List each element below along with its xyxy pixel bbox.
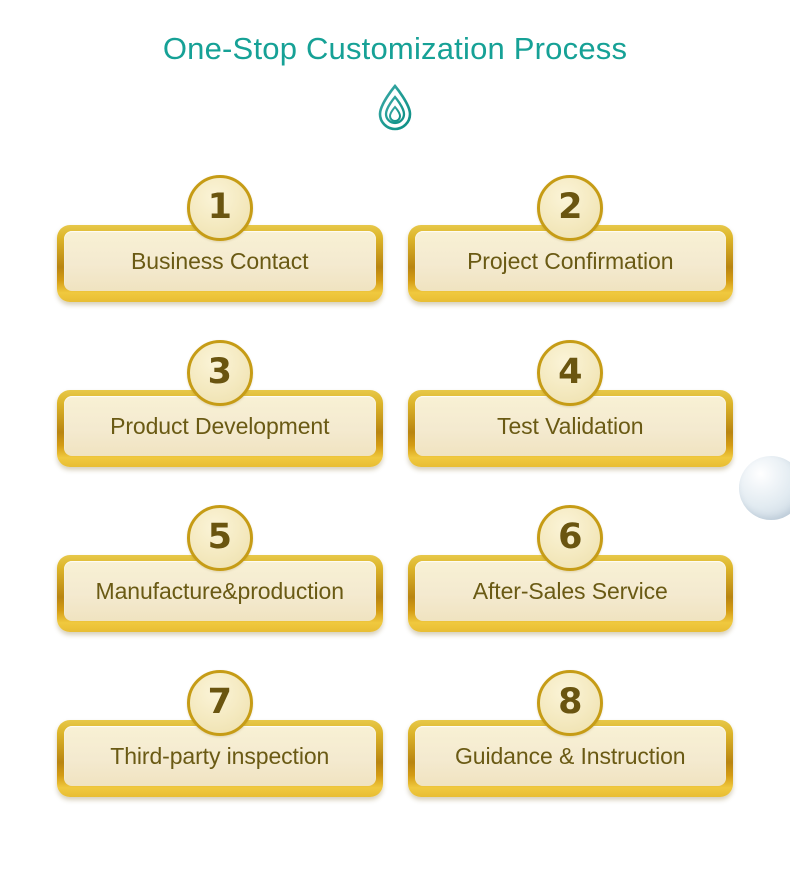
step-number: 2 bbox=[558, 190, 582, 225]
process-step-4[interactable]: 4 Test Validation bbox=[408, 340, 734, 505]
page-title: One-Stop Customization Process bbox=[0, 0, 790, 67]
step-number: 5 bbox=[208, 520, 232, 555]
step-number-badge: 4 bbox=[537, 340, 603, 406]
step-number-badge: 1 bbox=[187, 175, 253, 241]
process-steps-grid: 1 Business Contact 2 Project Confirmatio… bbox=[0, 175, 790, 835]
water-droplet-icon bbox=[375, 83, 415, 133]
process-step-7[interactable]: 7 Third-party inspection bbox=[57, 670, 383, 835]
step-number-badge: 2 bbox=[537, 175, 603, 241]
process-step-2[interactable]: 2 Project Confirmation bbox=[408, 175, 734, 340]
step-label: Test Validation bbox=[491, 415, 649, 438]
step-number-badge: 3 bbox=[187, 340, 253, 406]
process-step-1[interactable]: 1 Business Contact bbox=[57, 175, 383, 340]
process-step-6[interactable]: 6 After-Sales Service bbox=[408, 505, 734, 670]
step-number: 7 bbox=[208, 685, 232, 720]
step-number: 6 bbox=[558, 520, 582, 555]
process-step-5[interactable]: 5 Manufacture&production bbox=[57, 505, 383, 670]
step-number: 8 bbox=[558, 685, 582, 720]
step-number: 3 bbox=[208, 355, 232, 390]
step-label: Third-party inspection bbox=[104, 745, 335, 768]
step-label: After-Sales Service bbox=[467, 580, 674, 603]
step-number-badge: 5 bbox=[187, 505, 253, 571]
step-number-badge: 6 bbox=[537, 505, 603, 571]
step-number-badge: 7 bbox=[187, 670, 253, 736]
step-label: Project Confirmation bbox=[461, 250, 679, 273]
step-number: 4 bbox=[558, 355, 582, 390]
droplet-icon-wrap bbox=[0, 81, 790, 135]
step-number: 1 bbox=[208, 190, 232, 225]
process-step-3[interactable]: 3 Product Development bbox=[57, 340, 383, 505]
step-number-badge: 8 bbox=[537, 670, 603, 736]
process-step-8[interactable]: 8 Guidance & Instruction bbox=[408, 670, 734, 835]
step-label: Guidance & Instruction bbox=[449, 745, 691, 768]
step-label: Manufacture&production bbox=[90, 580, 350, 603]
step-label: Business Contact bbox=[125, 250, 314, 273]
header: One-Stop Customization Process bbox=[0, 0, 790, 135]
step-label: Product Development bbox=[104, 415, 335, 438]
